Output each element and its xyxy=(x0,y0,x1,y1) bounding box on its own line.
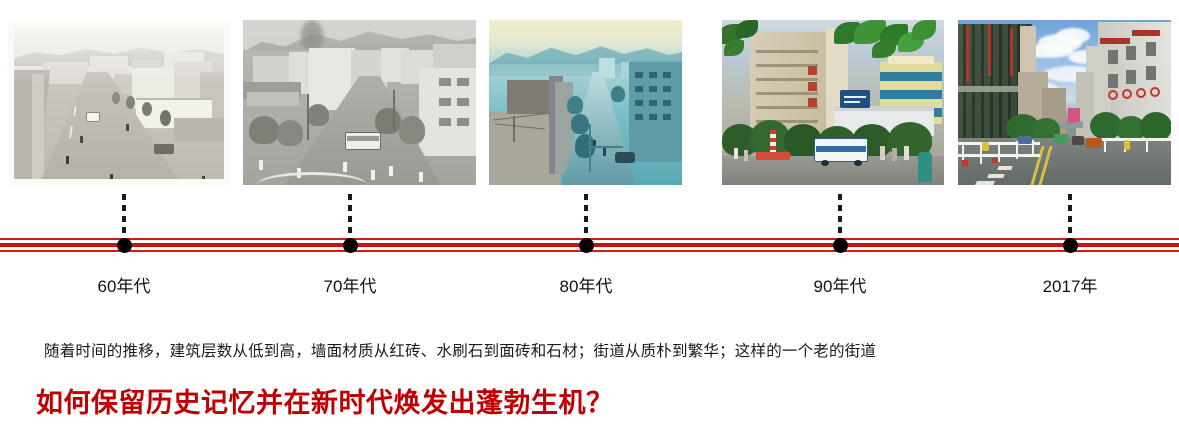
timeline-photo-2017 xyxy=(958,20,1171,185)
timeline-node-1970s[interactable] xyxy=(343,238,358,253)
timeline-photo-1980s xyxy=(489,20,682,185)
photo-frame xyxy=(489,20,682,185)
photo-scene-1960s xyxy=(14,26,224,179)
era-label-1960s: 60年代 xyxy=(64,272,184,297)
photo-frame xyxy=(958,20,1171,185)
timeline-photo-1990s xyxy=(722,20,944,185)
timeline-node-1980s[interactable] xyxy=(579,238,594,253)
photo-frame xyxy=(14,26,224,179)
photo-scene-1990s xyxy=(722,20,944,185)
photo-frame xyxy=(722,20,944,185)
photo-scene-1970s xyxy=(243,20,476,185)
photo-scene-2017 xyxy=(958,20,1171,185)
timeline-photo-1960s xyxy=(8,20,230,185)
era-label-2017: 2017年 xyxy=(1010,272,1130,297)
timeline-photo-1970s xyxy=(243,20,476,185)
timeline-slide: 60年代 70年代 80年代 90年代 2017年 随着时间的推移，建筑层数从低… xyxy=(0,0,1179,437)
era-label-1990s: 90年代 xyxy=(780,272,900,297)
photo-scene-1980s xyxy=(489,20,682,185)
timeline-node-2017[interactable] xyxy=(1063,238,1078,253)
caption-headline: 如何保留历史记忆并在新时代焕发出蓬勃生机？ xyxy=(36,381,614,420)
timeline-node-1990s[interactable] xyxy=(833,238,848,253)
era-label-1970s: 70年代 xyxy=(290,272,410,297)
timeline-node-1960s[interactable] xyxy=(117,238,132,253)
caption-subtitle: 随着时间的推移，建筑层数从低到高，墙面材质从红砖、水刷石到面砖和石材；街道从质朴… xyxy=(44,339,876,361)
era-label-1980s: 80年代 xyxy=(526,272,646,297)
photo-frame xyxy=(243,20,476,185)
